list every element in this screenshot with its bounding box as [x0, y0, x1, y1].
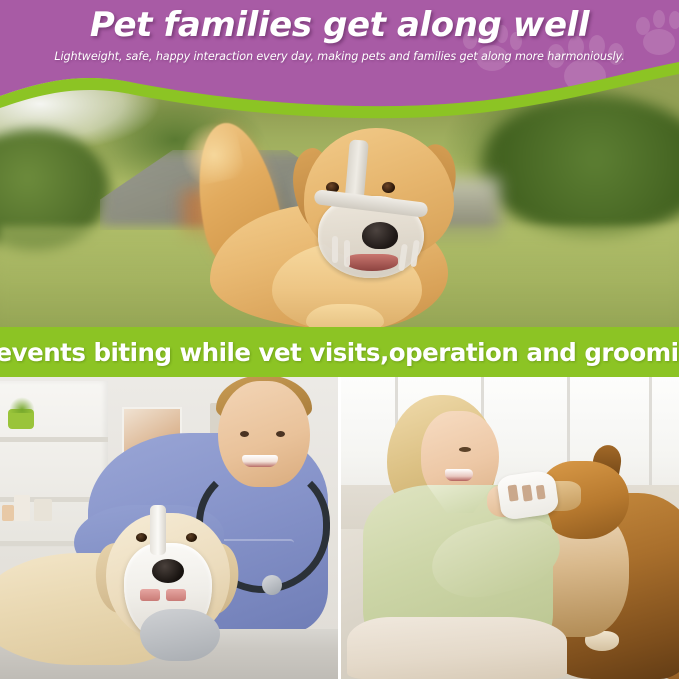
- dog-mouth: [346, 254, 398, 271]
- page-subtitle: Lightweight, safe, happy interaction eve…: [0, 44, 679, 63]
- vet-dog-nose: [152, 559, 184, 583]
- woman-smile: [445, 469, 473, 481]
- dog-eye-right: [382, 182, 395, 193]
- vet-dog-eye-right: [186, 533, 197, 542]
- vet-panel-photo: [0, 377, 338, 679]
- muzzle-vent: [166, 589, 186, 601]
- feature-banner-text: Prevents biting while vet visits,operati…: [0, 338, 679, 367]
- vet-dog-eye-left: [136, 533, 147, 542]
- vet-eye-right: [276, 431, 285, 437]
- shelf-jar: [34, 499, 52, 521]
- woman-eye: [459, 447, 471, 452]
- bottom-photo-row: [0, 377, 679, 679]
- vet-muzzle-head-strap: [150, 505, 166, 555]
- stethoscope-chestpiece: [262, 575, 282, 595]
- shelf-jar: [2, 505, 14, 521]
- header-banner: Pet families get along well Lightweight,…: [0, 0, 679, 120]
- muzzle-vent: [140, 589, 160, 601]
- product-infographic: Pet families get along well Lightweight,…: [0, 0, 679, 679]
- feature-banner: Prevents biting while vet visits,operati…: [0, 327, 679, 377]
- shelf-jar: [14, 495, 30, 521]
- vet-gloved-hand: [140, 609, 220, 661]
- page-title: Pet families get along well: [0, 0, 679, 44]
- woman-pants: [347, 617, 567, 679]
- home-panel-photo: [341, 377, 679, 679]
- vet-eye-left: [240, 431, 249, 437]
- muzzle-bar: [344, 240, 350, 267]
- shelf-plant: [8, 409, 34, 429]
- hero-dog: [186, 118, 486, 330]
- muzzle-bar: [332, 236, 338, 263]
- dog-nose: [362, 222, 398, 249]
